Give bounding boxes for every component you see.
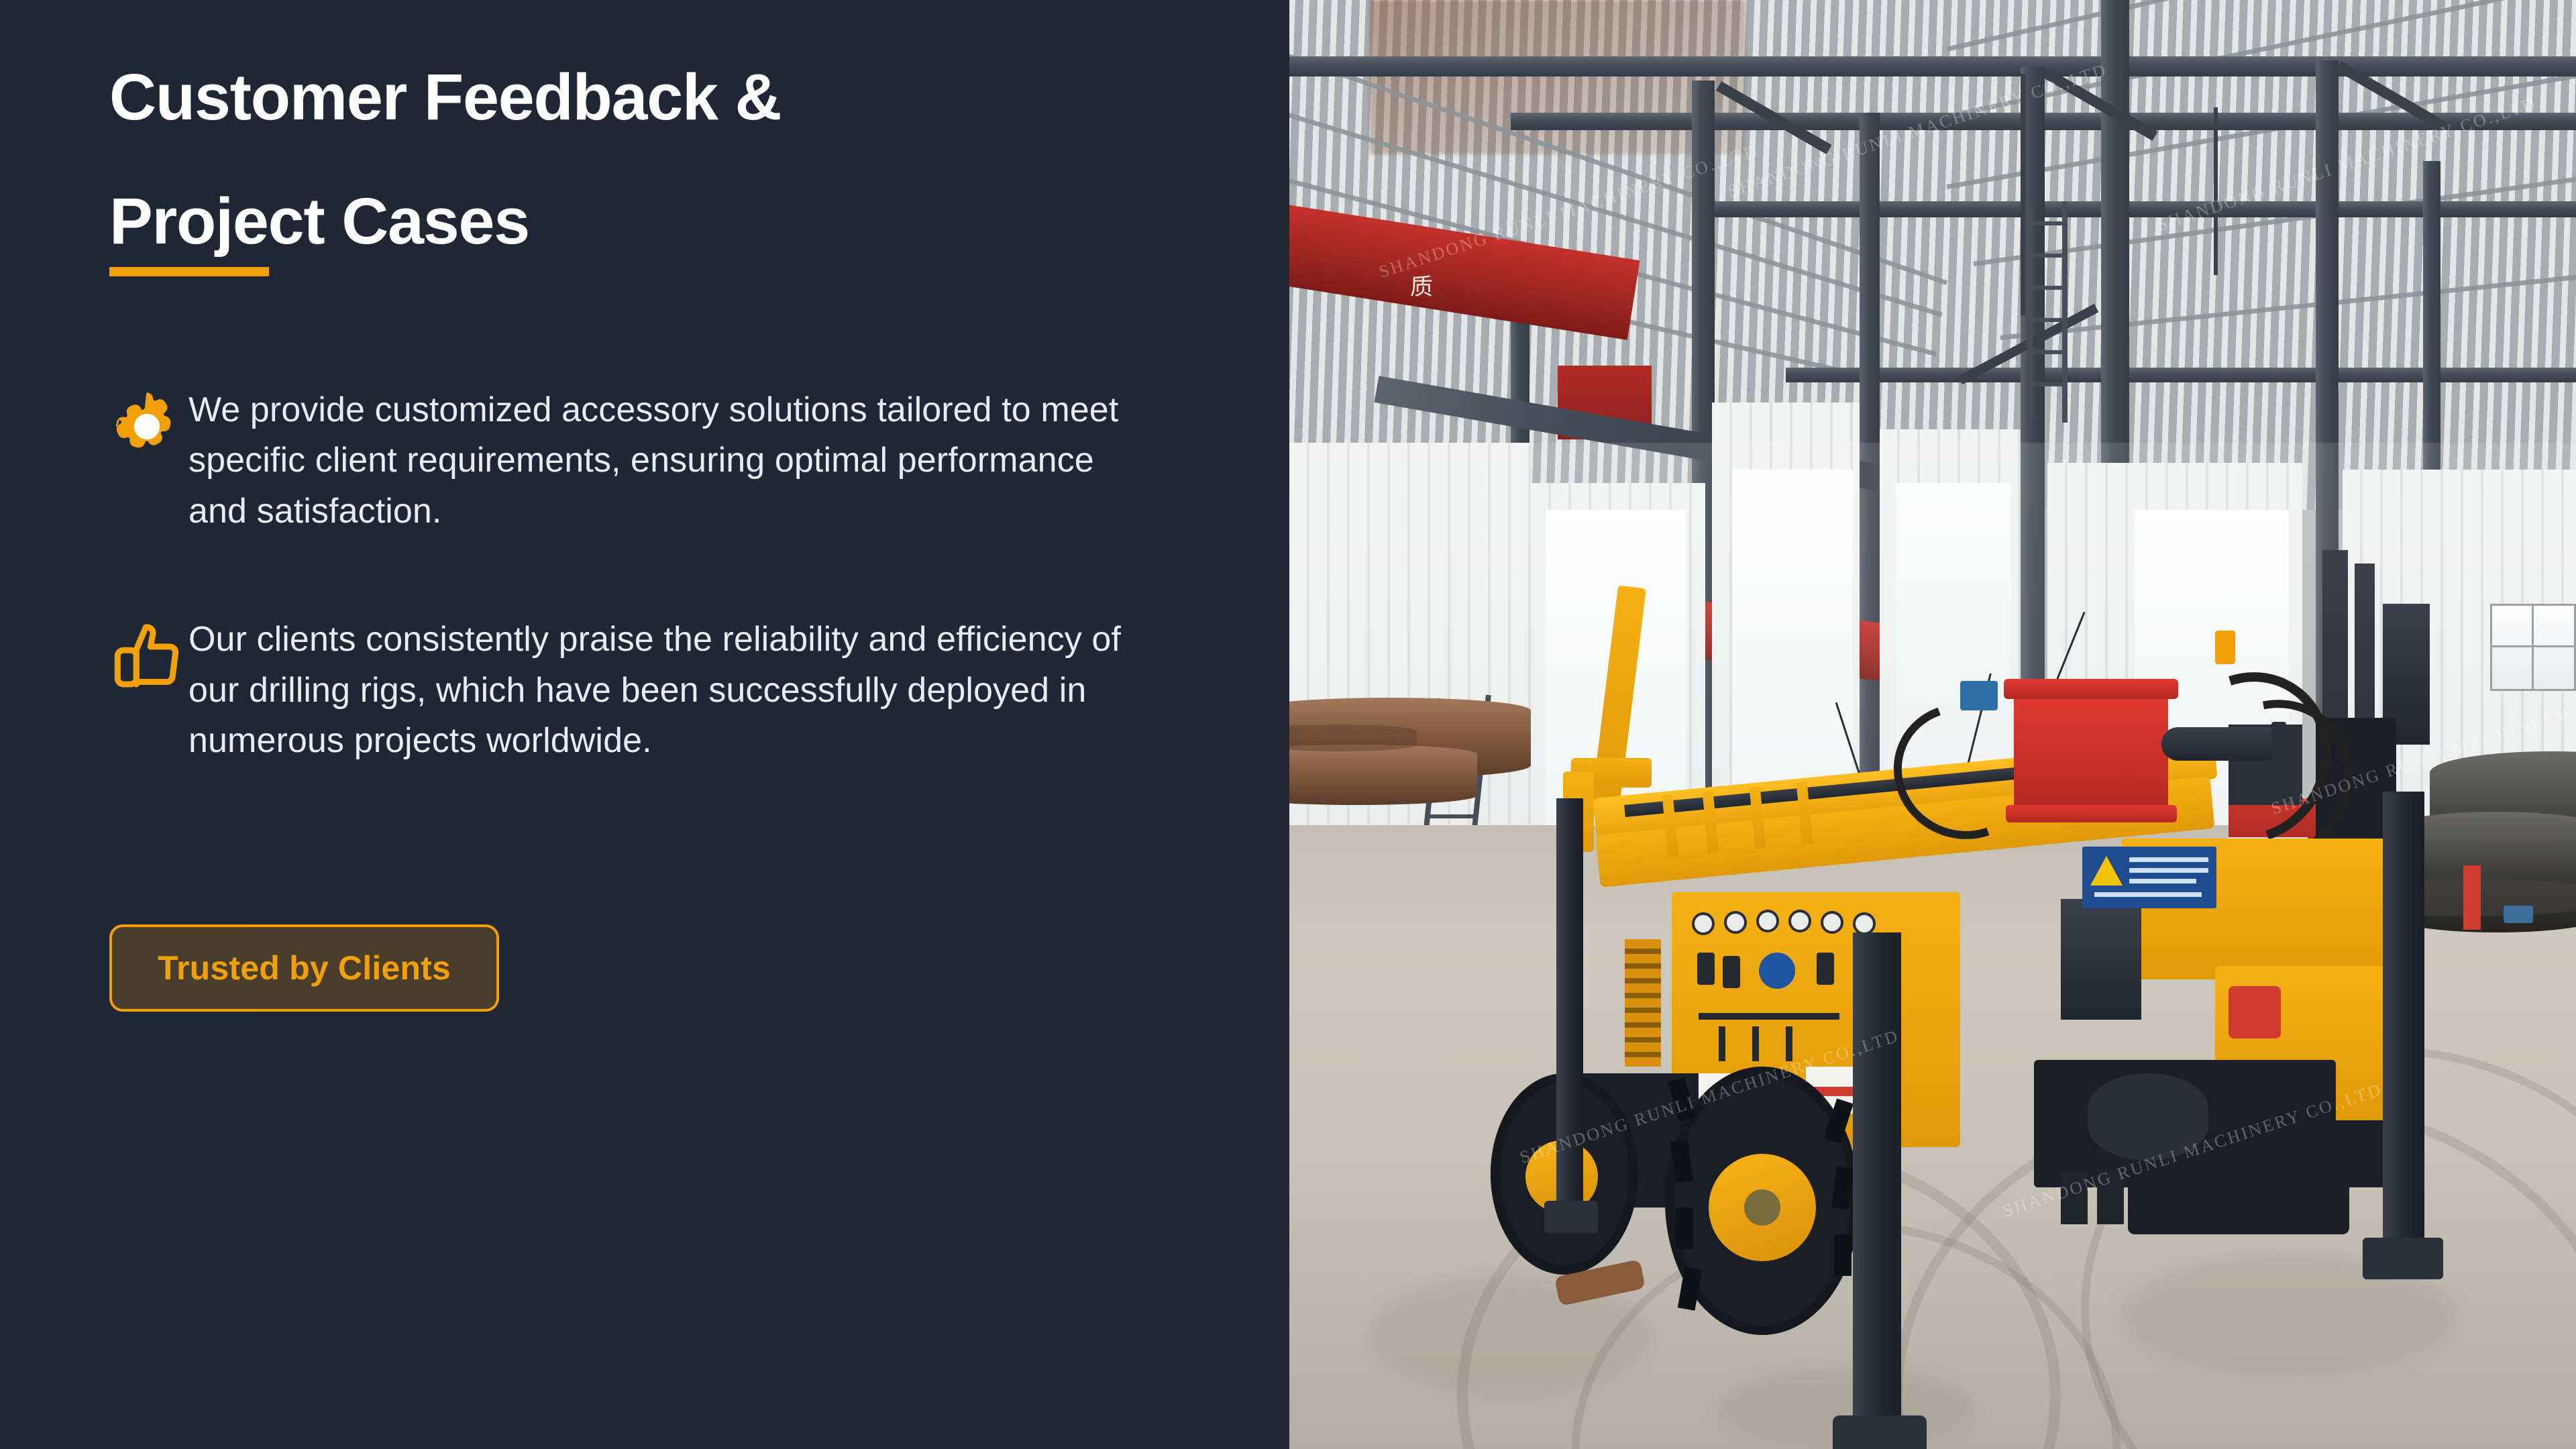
outrigger-leg — [1853, 932, 1901, 1449]
feedback-section: Customer Feedback & Project Cases We pro… — [0, 0, 2576, 1449]
trusted-by-clients-button[interactable]: Trusted by Clients — [109, 924, 499, 1012]
rotary-head — [2014, 691, 2168, 812]
left-content-panel: Customer Feedback & Project Cases We pro… — [0, 0, 1289, 1449]
heading-line-2: Project Cases — [109, 189, 1156, 254]
feature-item: We provide customized accessory solution… — [109, 385, 1289, 537]
feature-text: We provide customized accessory solution… — [189, 385, 1148, 537]
heading-accent-bar — [109, 267, 269, 276]
outrigger-leg — [2383, 792, 2424, 1275]
section-heading: Customer Feedback & Project Cases — [109, 64, 1156, 254]
workshop-photo: 质 — [1289, 0, 2576, 1449]
heading-line-1: Customer Feedback & — [109, 64, 1156, 129]
cta-label: Trusted by Clients — [158, 949, 451, 987]
roof-rust-stain — [1370, 0, 1746, 154]
thumbs-up-icon — [109, 614, 189, 694]
feature-text: Our clients consistently praise the reli… — [189, 614, 1148, 766]
red-marker-post — [2463, 865, 2481, 930]
blue-fitting — [1960, 681, 1998, 710]
red-valve — [2229, 986, 2281, 1038]
gear-icon — [109, 385, 189, 464]
brand-decal — [1759, 953, 1795, 989]
feature-item: Our clients consistently praise the reli… — [109, 614, 1289, 766]
feature-list: We provide customized accessory solution… — [109, 385, 1289, 766]
outrigger-leg — [1556, 798, 1583, 1228]
roof-beam — [1289, 56, 2576, 76]
